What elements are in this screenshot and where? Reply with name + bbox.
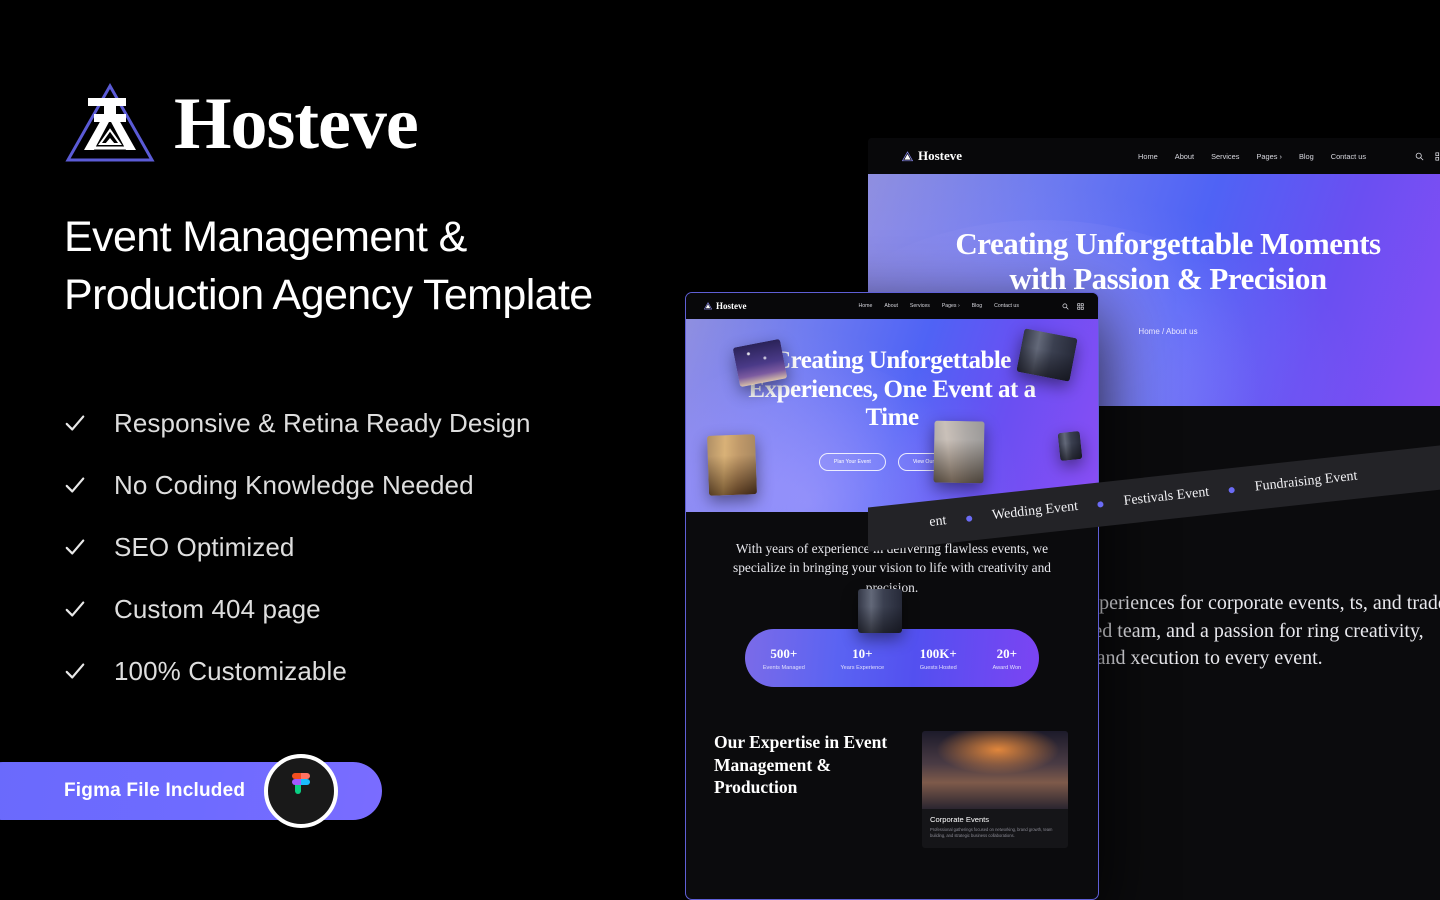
nav-link-blog[interactable]: Blog (1299, 152, 1314, 161)
figma-logo-badge (264, 754, 338, 828)
expertise-section: Our Expertise in Event Management & Prod… (714, 731, 1098, 847)
breadcrumb: Home / About us (868, 327, 1440, 336)
search-icon[interactable] (1415, 152, 1424, 161)
page-title: Event Management & Production Agency Tem… (64, 208, 674, 325)
stat-value: 500+ (763, 646, 805, 662)
nav-link-pages[interactable]: Pages › (942, 303, 960, 309)
expertise-card-title: Corporate Events (930, 815, 1060, 824)
list-item: Responsive & Retina Ready Design (64, 392, 531, 454)
expertise-card-image (922, 731, 1068, 809)
hero-photo-wedding (707, 434, 757, 496)
nav-link-blog[interactable]: Blog (972, 303, 982, 309)
hero-title: Creating Unforgettable Moments with Pass… (868, 226, 1440, 297)
grid-menu-icon[interactable] (1077, 303, 1084, 310)
nav-link-home[interactable]: Home (859, 303, 873, 309)
mockup-nav-icons (1062, 303, 1084, 310)
stat-item: 10+ Years Experience (840, 646, 884, 671)
mockup-nav-links: Home About Services Pages › Blog Contact… (859, 303, 1019, 309)
plan-your-event-button[interactable]: Plan Your Event (819, 453, 886, 471)
stat-value: 10+ (840, 646, 884, 662)
feature-label: 100% Customizable (114, 656, 347, 687)
stat-label: Guests Hosted (920, 665, 957, 671)
mockup-navbar: Hosteve Home About Services Pages › Blog… (686, 293, 1098, 319)
feature-label: Responsive & Retina Ready Design (114, 408, 531, 439)
nav-link-contact-us[interactable]: Contact us (1331, 152, 1366, 161)
expertise-title: Our Expertise in Event Management & Prod… (714, 731, 904, 798)
marquee-item: Festivals Event (1123, 485, 1210, 510)
stat-value: 100K+ (920, 646, 957, 662)
marquee-item: ent (929, 513, 948, 531)
list-item: Custom 404 page (64, 578, 531, 640)
browser-mockup-home-page: Hosteve Home About Services Pages › Blog… (685, 292, 1099, 900)
expertise-card-description: Professional gatherings focused on netwo… (930, 827, 1060, 839)
marquee-item: Wedding Event (991, 499, 1079, 524)
mockup-logo-text: Hosteve (918, 148, 962, 164)
stat-item: 20+ Award Won (992, 646, 1021, 671)
brand-lockup: Hosteve (64, 82, 418, 166)
mockup-navbar: Hosteve Home About Services Pages › Blog… (868, 138, 1440, 174)
expertise-card-body: Corporate Events Professional gatherings… (922, 809, 1068, 847)
stat-label: Events Managed (763, 665, 805, 671)
list-item: No Coding Knowledge Needed (64, 454, 531, 516)
figma-file-included-badge[interactable]: Figma File Included (0, 762, 382, 820)
chevron-down-icon: › (1279, 152, 1281, 161)
bullet-dot-icon (966, 515, 973, 522)
hero-photo-banquet (933, 421, 984, 484)
triangle-za-monogram-logo (704, 302, 712, 310)
list-item: 100% Customizable (64, 640, 531, 702)
about-photo-thumb (858, 589, 902, 633)
mockup-nav-icons (1415, 152, 1440, 161)
nav-link-about[interactable]: About (1175, 152, 1194, 161)
nav-link-contact-us[interactable]: Contact us (994, 303, 1019, 309)
check-icon (64, 598, 86, 620)
bullet-dot-icon (1229, 487, 1236, 494)
figma-logo-icon (289, 773, 313, 809)
feature-label: SEO Optimized (114, 532, 294, 563)
check-icon (64, 536, 86, 558)
figma-badge-label: Figma File Included (64, 780, 245, 802)
marquee-item: Fundraising Event (1254, 469, 1358, 496)
mockup-logo[interactable]: Hosteve (704, 301, 747, 311)
search-icon[interactable] (1062, 303, 1069, 310)
check-icon (64, 660, 86, 682)
mockup-nav-links: Home About Services Pages › Blog Contact… (1138, 152, 1366, 161)
nav-link-pages[interactable]: Pages › (1256, 152, 1282, 161)
check-icon (64, 412, 86, 434)
mockup-logo[interactable]: Hosteve (902, 148, 962, 164)
brand-name: Hosteve (174, 87, 418, 161)
mockup-logo-text: Hosteve (716, 301, 747, 311)
nav-link-about[interactable]: About (884, 303, 898, 309)
chevron-down-icon: › (958, 303, 960, 309)
check-icon (64, 474, 86, 496)
stat-value: 20+ (992, 646, 1021, 662)
hero-title-line-2: with Passion & Precision (868, 261, 1440, 296)
expertise-card-corporate-events[interactable]: Corporate Events Professional gatherings… (922, 731, 1068, 847)
bullet-dot-icon (1098, 501, 1105, 508)
home-hero: Creating Unforgettable Experiences, One … (686, 319, 1098, 512)
stat-item: 500+ Events Managed (763, 646, 805, 671)
stat-label: Award Won (992, 665, 1021, 671)
triangle-za-monogram-logo (64, 82, 156, 166)
promo-panel: Hosteve Event Management & Production Ag… (0, 0, 690, 900)
hero-photo-small-guests (1058, 431, 1083, 461)
stats-pill: 500+ Events Managed 10+ Years Experience… (745, 629, 1039, 687)
feature-list: Responsive & Retina Ready Design No Codi… (64, 392, 531, 702)
feature-label: No Coding Knowledge Needed (114, 470, 474, 501)
list-item: SEO Optimized (64, 516, 531, 578)
grid-menu-icon[interactable] (1435, 152, 1440, 161)
stat-label: Years Experience (840, 665, 884, 671)
triangle-za-monogram-logo (902, 151, 913, 162)
hero-title-line-1: Creating Unforgettable Moments (868, 226, 1440, 261)
feature-label: Custom 404 page (114, 594, 321, 625)
nav-link-home[interactable]: Home (1138, 152, 1158, 161)
nav-link-services[interactable]: Services (1211, 152, 1239, 161)
nav-link-services[interactable]: Services (910, 303, 930, 309)
stat-item: 100K+ Guests Hosted (920, 646, 957, 671)
